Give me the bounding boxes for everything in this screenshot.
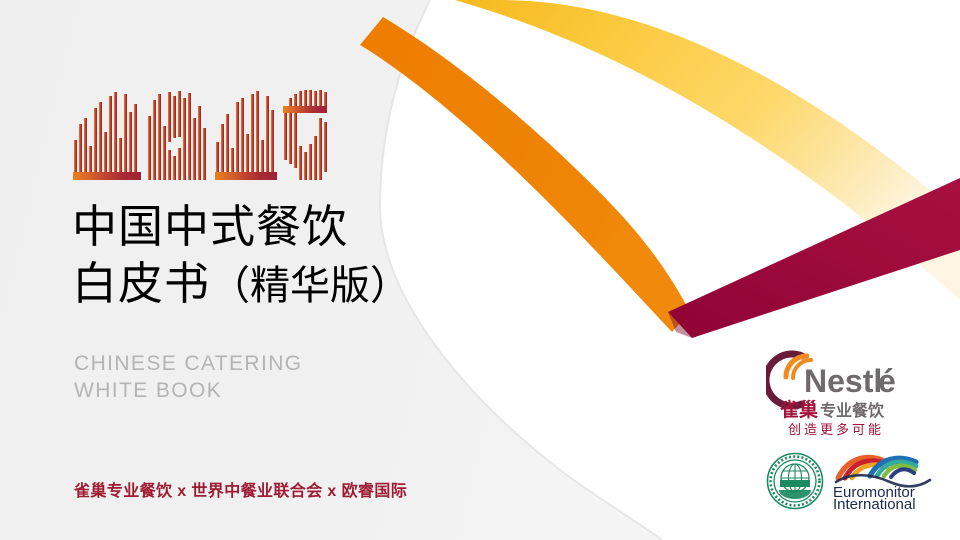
subtitle-line-1: CHINESE CATERING xyxy=(74,350,303,377)
euromonitor-arcs-icon xyxy=(836,457,930,486)
nestle-swoosh-outer-icon xyxy=(766,354,802,406)
partner-logo-row: Euromonitor International xyxy=(766,450,944,512)
nestle-wordmark: Nestl xyxy=(804,363,882,399)
euromonitor-line-2: International xyxy=(833,496,916,510)
year-2025-graphic xyxy=(70,88,330,188)
nestle-cn-brand: 雀巢 xyxy=(779,398,819,421)
partners-credit-line: 雀巢专业餐饮 x 世界中餐业联合会 x 欧睿国际 xyxy=(74,477,407,501)
subtitle-line-2: WHITE BOOK xyxy=(74,377,303,404)
slide-canvas: 中国中式餐饮 白皮书（精华版） CHINESE CATERING WHITE B… xyxy=(0,0,960,540)
wfcci-banner-icon xyxy=(780,480,810,487)
nestle-wordmark-accent: é xyxy=(878,363,896,399)
nestle-tagline: 创造更多可能 xyxy=(788,422,884,437)
title-line-1: 中国中式餐饮 xyxy=(72,198,552,255)
euromonitor-logo: Euromonitor International xyxy=(832,452,940,510)
wfcci-logo xyxy=(766,452,824,510)
wfcci-base-icon xyxy=(779,490,811,499)
nestle-professional-logo: Nestl é 雀巢 专业餐饮 创造更多可能 xyxy=(766,344,936,444)
nestle-cn-segment: 专业餐饮 xyxy=(820,401,885,420)
year-2025-bars xyxy=(70,88,330,188)
title-block: 中国中式餐饮 白皮书（精华版） xyxy=(72,198,552,315)
title-line-2-paren: （精华版） xyxy=(210,264,410,308)
title-line-2: 白皮书（精华版） xyxy=(72,255,552,315)
subtitle-block: CHINESE CATERING WHITE BOOK xyxy=(74,350,303,404)
title-line-2-main: 白皮书 xyxy=(72,258,210,309)
